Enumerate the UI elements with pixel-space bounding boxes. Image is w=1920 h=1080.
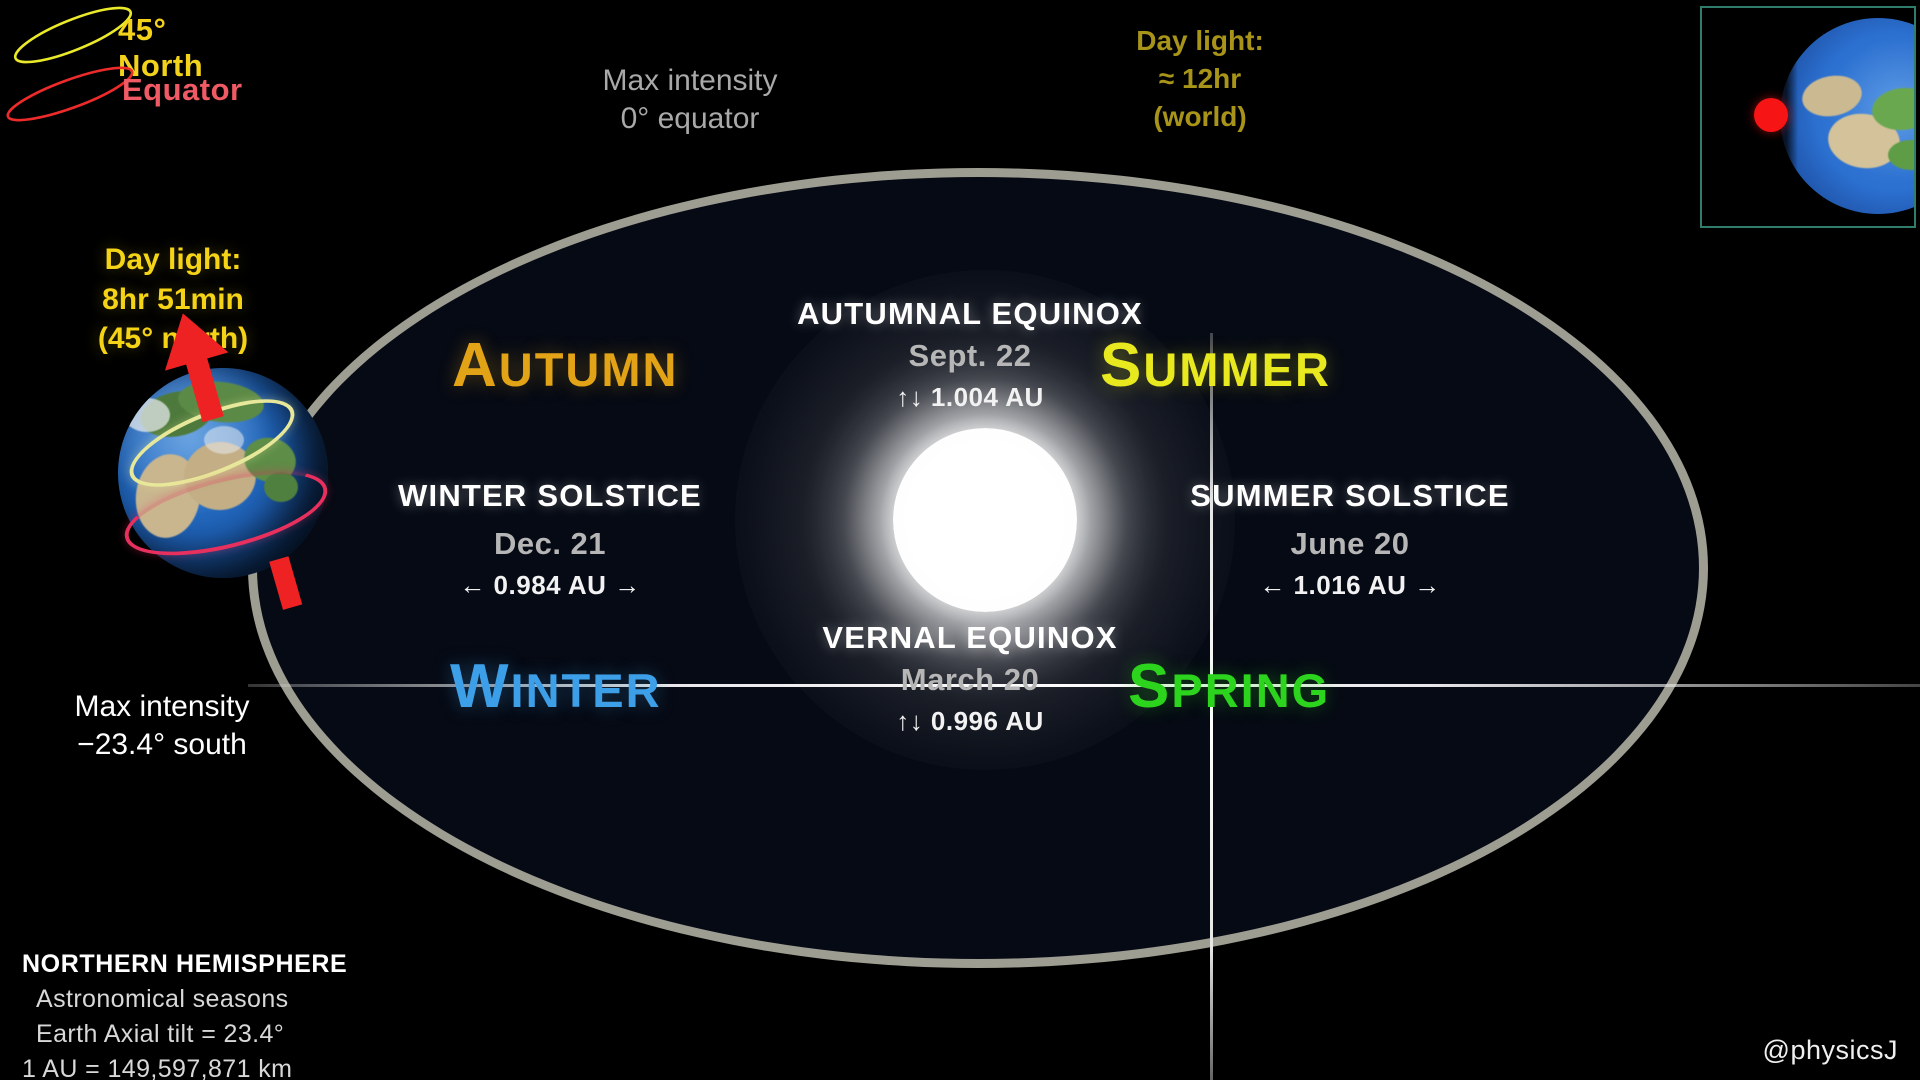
annotation-line: Max intensity bbox=[530, 62, 850, 100]
event-autumnal-equinox: AUTUMNAL EQUINOX Sept. 22 ↑↓ 1.004 AU bbox=[710, 296, 1230, 413]
season-initial: W bbox=[450, 652, 511, 721]
inset-marker-dot bbox=[1754, 98, 1788, 132]
annotation-max-intensity-equator: Max intensity 0° equator bbox=[530, 62, 850, 139]
season-label-autumn: AUTUMN bbox=[452, 335, 678, 397]
earth-axis-arrow-icon bbox=[136, 310, 256, 430]
watermark: @physicsJ bbox=[1763, 1035, 1898, 1066]
season-rest: UTUMN bbox=[499, 343, 679, 396]
sun-icon bbox=[893, 428, 1077, 612]
event-date: Dec. 21 bbox=[330, 526, 770, 562]
footer-line: NORTHERN HEMISPHERE bbox=[22, 950, 347, 979]
event-date: Sept. 22 bbox=[710, 338, 1230, 374]
annotation-line: −23.4° south bbox=[12, 726, 312, 764]
event-date: June 20 bbox=[1130, 526, 1570, 562]
season-label-winter: WINTER bbox=[450, 656, 662, 718]
footer-line: Astronomical seasons bbox=[22, 985, 347, 1014]
footer-line: Earth Axial tilt = 23.4° bbox=[22, 1020, 347, 1049]
earth-axis-stub-icon bbox=[226, 554, 346, 614]
annotation-max-intensity-south: Max intensity −23.4° south bbox=[12, 688, 312, 765]
legend-label-equator: Equator bbox=[122, 72, 243, 108]
event-distance: ↑↓ 1.004 AU bbox=[710, 382, 1230, 413]
footer-line: 1 AU = 149,597,871 km bbox=[22, 1055, 347, 1080]
annotation-line: ≈ 12hr bbox=[1050, 60, 1350, 98]
annotation-daylight-world: Day light: ≈ 12hr (world) bbox=[1050, 22, 1350, 135]
inset-earth-sphere bbox=[1780, 18, 1916, 214]
event-distance: ↑↓ 0.996 AU bbox=[710, 706, 1230, 737]
event-title: WINTER SOLSTICE bbox=[330, 478, 770, 514]
event-title: VERNAL EQUINOX bbox=[710, 620, 1230, 656]
earth-globe bbox=[118, 368, 328, 578]
event-winter-solstice: WINTER SOLSTICE Dec. 21 ← 0.984 AU → bbox=[330, 478, 770, 601]
event-distance: ← 1.016 AU → bbox=[1130, 570, 1570, 601]
event-distance: ← 0.984 AU → bbox=[330, 570, 770, 601]
annotation-line: Day light: bbox=[28, 240, 318, 280]
event-summer-solstice: SUMMER SOLSTICE June 20 ← 1.016 AU → bbox=[1130, 478, 1570, 601]
season-rest: INTER bbox=[511, 664, 662, 717]
tilted-ellipse-icon bbox=[0, 64, 140, 124]
annotation-line: (world) bbox=[1050, 98, 1350, 136]
event-date: March 20 bbox=[710, 662, 1230, 698]
event-vernal-equinox: VERNAL EQUINOX March 20 ↑↓ 0.996 AU bbox=[710, 620, 1230, 737]
seasons-diagram: 45° North Equator Max intensity 0° equat… bbox=[0, 0, 1920, 1080]
annotation-line: 0° equator bbox=[530, 100, 850, 138]
event-title: SUMMER SOLSTICE bbox=[1130, 478, 1570, 514]
terminator-inset-panel bbox=[1700, 6, 1916, 228]
annotation-line: Max intensity bbox=[12, 688, 312, 726]
footer-caption: NORTHERN HEMISPHERE Astronomical seasons… bbox=[22, 950, 347, 1080]
annotation-line: Day light: bbox=[1050, 22, 1350, 60]
event-title: AUTUMNAL EQUINOX bbox=[710, 296, 1230, 332]
season-initial: A bbox=[452, 331, 499, 400]
